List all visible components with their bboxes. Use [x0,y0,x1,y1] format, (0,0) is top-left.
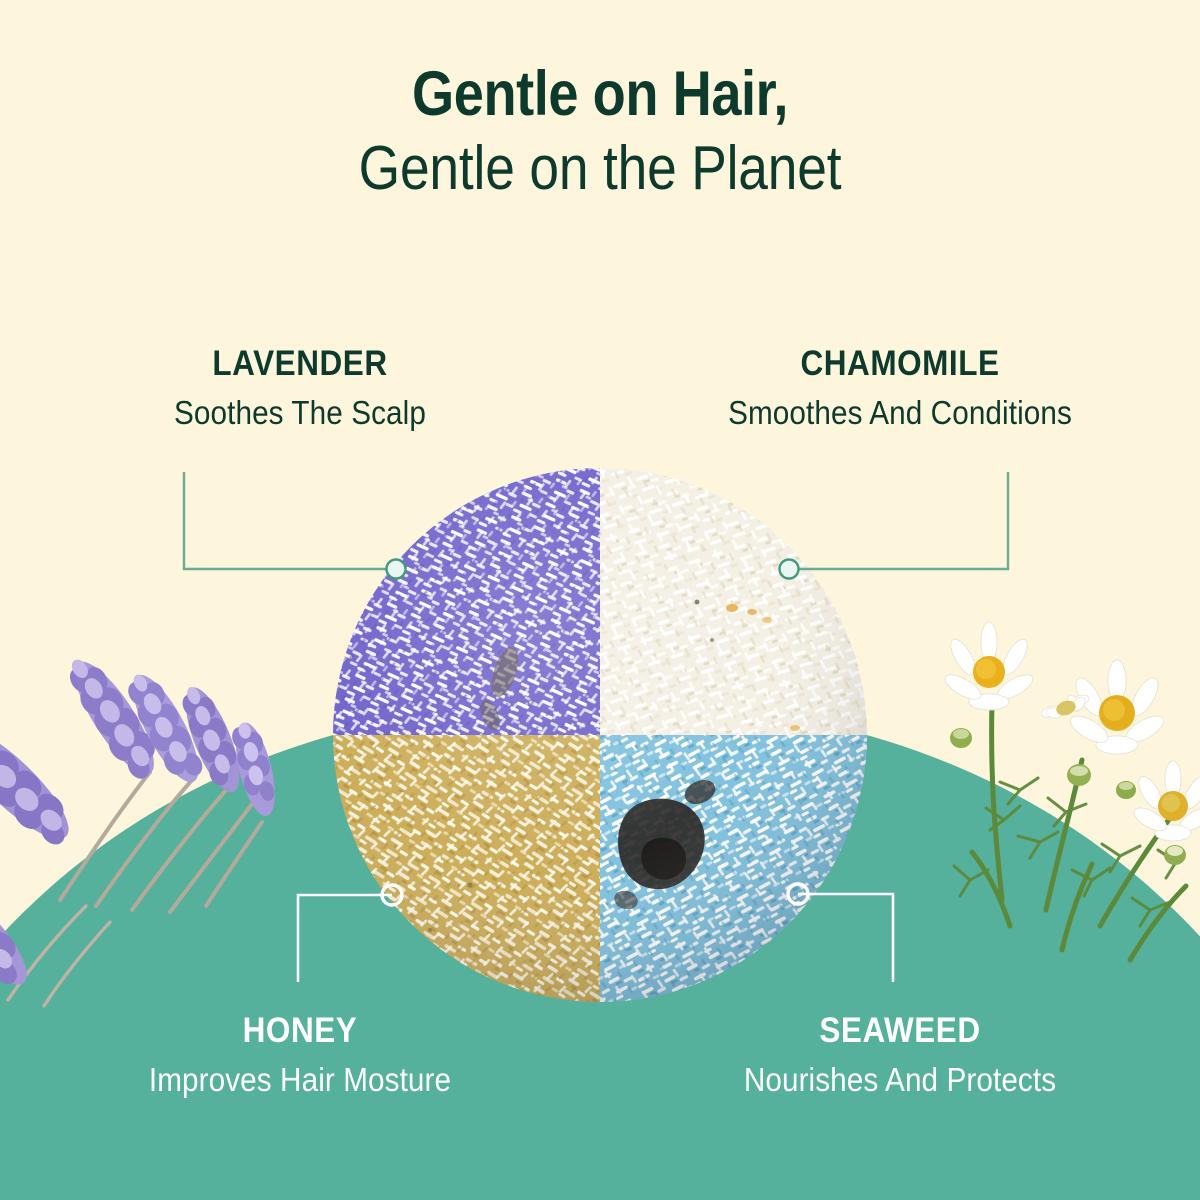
callout-lavender-description: Soothes The Scalp [30,395,570,432]
callout-lavender: LAVENDER Soothes The Scalp [0,345,600,431]
shampoo-bar-product [333,468,867,1002]
callout-chamomile-title: CHAMOMILE [630,345,1170,384]
callout-seaweed: SEAWEED Nourishes And Protects [600,1012,1200,1098]
callout-chamomile: CHAMOMILE Smoothes And Conditions [600,345,1200,431]
headline-line-1: Gentle on Hair, [84,62,1116,126]
headline-block: Gentle on Hair, Gentle on the Planet [0,62,1200,205]
callout-seaweed-title: SEAWEED [630,1012,1170,1051]
headline-line-2: Gentle on the Planet [84,132,1116,205]
infographic-canvas: Gentle on Hair, Gentle on the Planet LAV… [0,0,1200,1200]
callout-honey: HONEY Improves Hair Mosture [0,1012,600,1098]
callout-honey-title: HONEY [30,1012,570,1051]
callout-chamomile-description: Smoothes And Conditions [630,395,1170,432]
callout-honey-description: Improves Hair Mosture [30,1062,570,1099]
callout-seaweed-description: Nourishes And Protects [630,1062,1170,1099]
callout-lavender-title: LAVENDER [30,345,570,384]
